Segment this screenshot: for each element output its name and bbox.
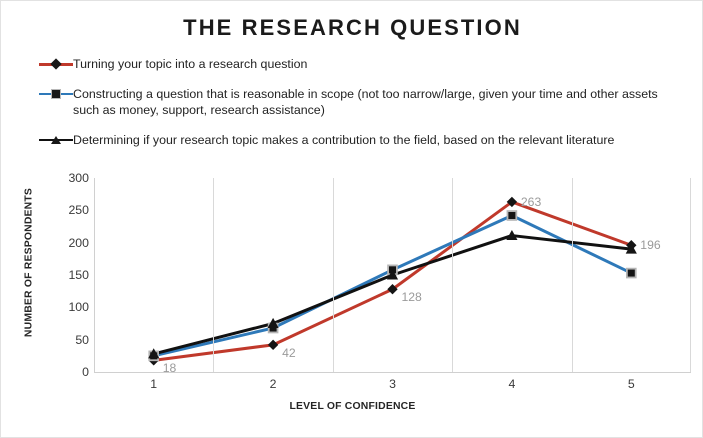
x-tick-label: 2 xyxy=(238,377,308,391)
vertical-gridline xyxy=(213,178,214,372)
plot-area: NUMBER OF RESPONDENTS 300250200150100500… xyxy=(1,169,703,384)
vertical-gridline xyxy=(690,178,691,372)
legend-key-blue xyxy=(39,87,73,102)
legend-label-turning-topic: Turning your topic into a research quest… xyxy=(73,56,307,73)
data-label: 196 xyxy=(640,238,660,252)
chart-title: THE RESEARCH QUESTION xyxy=(1,15,703,41)
triangle-marker-icon xyxy=(51,136,61,144)
square-marker-icon xyxy=(52,90,60,98)
y-tick-label: 250 xyxy=(49,203,89,217)
vertical-gridline xyxy=(333,178,334,372)
y-axis-title: NUMBER OF RESPONDENTS xyxy=(24,173,35,353)
diamond-marker-icon xyxy=(268,340,278,350)
y-tick-label: 150 xyxy=(49,268,89,282)
legend-item-constructing-question[interactable]: Constructing a question that is reasonab… xyxy=(39,86,689,119)
y-tick-label: 200 xyxy=(49,236,89,250)
y-tick-label: 0 xyxy=(49,365,89,379)
series-plot xyxy=(94,178,691,372)
chart-card: THE RESEARCH QUESTION Turning your topic… xyxy=(0,0,703,438)
legend-item-determining-contribution[interactable]: Determining if your research topic makes… xyxy=(39,132,689,149)
chart-legend: Turning your topic into a research quest… xyxy=(39,56,689,161)
series-line xyxy=(154,236,632,354)
vertical-gridline xyxy=(572,178,573,372)
y-axis-ticks: 300250200150100500 xyxy=(43,169,89,372)
diamond-marker-icon xyxy=(50,58,61,69)
series-svg xyxy=(94,178,691,372)
data-label: 18 xyxy=(163,361,177,375)
x-tick-label: 5 xyxy=(596,377,666,391)
x-axis-title: LEVEL OF CONFIDENCE xyxy=(1,401,703,412)
data-label: 128 xyxy=(402,290,422,304)
y-tick-label: 100 xyxy=(49,300,89,314)
x-tick-label: 1 xyxy=(119,377,189,391)
data-label: 42 xyxy=(282,346,296,360)
x-axis-line xyxy=(94,372,691,373)
x-tick-label: 4 xyxy=(477,377,547,391)
legend-label-constructing-question: Constructing a question that is reasonab… xyxy=(73,86,685,119)
legend-item-turning-topic[interactable]: Turning your topic into a research quest… xyxy=(39,56,689,73)
y-tick-label: 50 xyxy=(49,333,89,347)
legend-label-determining-contribution: Determining if your research topic makes… xyxy=(73,132,614,149)
square-marker-icon xyxy=(627,269,636,278)
y-tick-label: 300 xyxy=(49,171,89,185)
x-tick-label: 3 xyxy=(358,377,428,391)
legend-key-black xyxy=(39,133,73,148)
vertical-gridline xyxy=(452,178,453,372)
legend-key-red xyxy=(39,57,73,72)
square-marker-icon xyxy=(508,211,517,220)
data-label: 263 xyxy=(521,195,541,209)
